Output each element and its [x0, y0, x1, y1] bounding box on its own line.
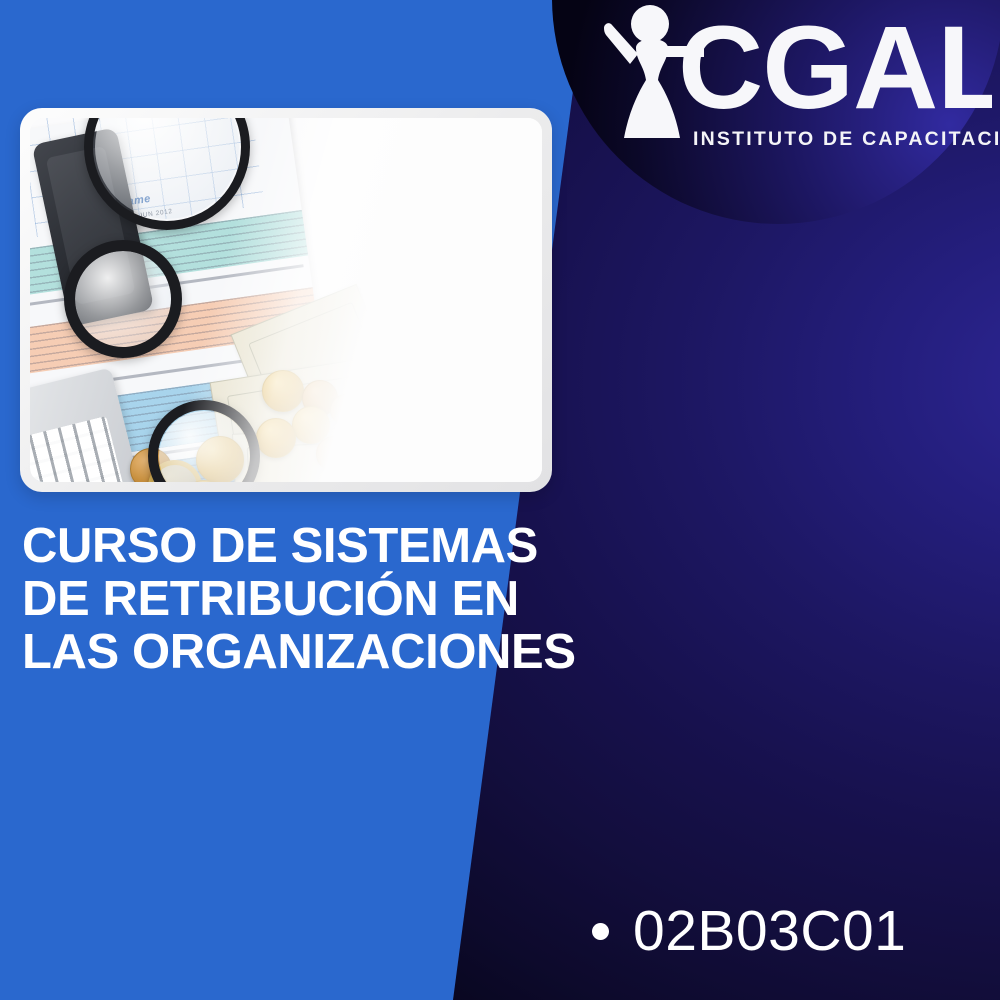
course-code-row: 02B03C01 — [592, 903, 906, 960]
brand-logo: CGAL INSTITUTO DE CAPACITACIÓN — [600, 2, 992, 174]
course-title: CURSO DE SISTEMAS DE RETRIBUCIÓN EN LAS … — [22, 520, 602, 679]
course-image-card: Company Name FISCAL YEAR ENDING JUN 2012 — [20, 108, 552, 492]
course-promo-card: CGAL INSTITUTO DE CAPACITACIÓN Company N… — [0, 0, 1000, 1000]
svg-text:CGAL: CGAL — [678, 8, 992, 134]
bullet-icon — [592, 923, 609, 940]
course-title-line-3: LAS ORGANIZACIONES — [22, 626, 602, 679]
course-title-line-1: CURSO DE SISTEMAS — [22, 520, 602, 573]
brand-subtitle: INSTITUTO DE CAPACITACIÓN — [693, 130, 993, 150]
course-title-line-2: DE RETRIBUCIÓN EN — [22, 573, 602, 626]
course-image: Company Name FISCAL YEAR ENDING JUN 2012 — [30, 118, 542, 482]
brand-wordmark: CGAL — [678, 8, 992, 134]
photo-white-fade — [30, 118, 542, 482]
course-code: 02B03C01 — [633, 903, 906, 960]
